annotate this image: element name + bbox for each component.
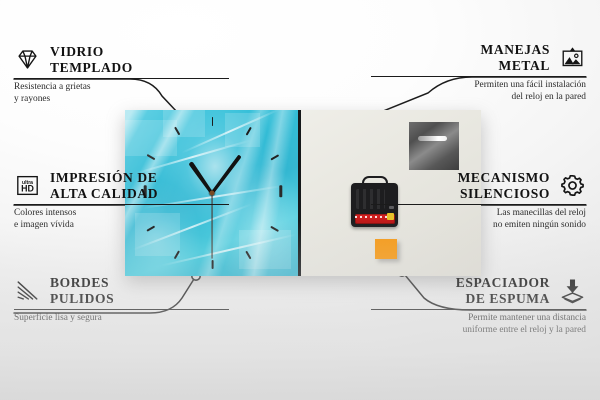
feature-subtitle: Resistencia a grietas y rayones bbox=[14, 82, 229, 105]
feature-subtitle: Colores intensos e imagen vívida bbox=[14, 208, 229, 231]
feature-title: MECANISMO SILENCIOSO bbox=[458, 170, 550, 201]
feature-title: ESPACIADOR DE ESPUMA bbox=[456, 275, 550, 306]
divider bbox=[14, 78, 229, 79]
picture-frame-hook-icon bbox=[559, 44, 586, 71]
gear-icon bbox=[559, 172, 586, 199]
feature-subtitle: Las manecillas del reloj no emiten ningú… bbox=[371, 208, 586, 231]
feature-subtitle: Permite mantener una distancia uniforme … bbox=[371, 313, 586, 336]
foam-spacer bbox=[375, 239, 397, 259]
metal-hanger-icon bbox=[409, 122, 459, 170]
feature-title: VIDRIO TEMPLADO bbox=[50, 44, 133, 75]
divider bbox=[371, 204, 586, 205]
infographic-canvas: VIDRIO TEMPLADO Resistencia a grietas y … bbox=[0, 0, 600, 400]
feature-mecanismo-silencioso[interactable]: MECANISMO SILENCIOSO Las manecillas del … bbox=[371, 170, 586, 231]
diagonal-lines-icon bbox=[14, 277, 41, 304]
feature-bordes-pulidos[interactable]: BORDES PULIDOS Superficie lisa y segura bbox=[14, 275, 229, 325]
feature-impresion-alta-calidad[interactable]: ultra HD IMPRESIÓN DE ALTA CALIDAD Color… bbox=[14, 170, 229, 231]
feature-title: IMPRESIÓN DE ALTA CALIDAD bbox=[50, 170, 158, 201]
feature-espaciador-de-espuma[interactable]: ESPACIADOR DE ESPUMA Permite mantener un… bbox=[371, 275, 586, 336]
divider bbox=[14, 204, 229, 205]
feature-subtitle: Superficie lisa y segura bbox=[14, 313, 229, 325]
svg-text:HD: HD bbox=[21, 183, 34, 193]
feature-subtitle: Permiten una fácil instalación del reloj… bbox=[371, 80, 586, 103]
divider bbox=[14, 309, 229, 310]
feature-vidrio-templado[interactable]: VIDRIO TEMPLADO Resistencia a grietas y … bbox=[14, 44, 229, 105]
feature-title: BORDES PULIDOS bbox=[50, 275, 114, 306]
hanger-slot bbox=[418, 136, 447, 141]
feature-manejas-metal[interactable]: MANEJAS METAL Permiten una fácil instala… bbox=[371, 42, 586, 103]
arrow-down-stack-icon bbox=[559, 277, 586, 304]
ultra-hd-icon: ultra HD bbox=[14, 172, 41, 199]
feature-title: MANEJAS METAL bbox=[481, 42, 550, 73]
divider bbox=[371, 309, 586, 310]
diamond-icon bbox=[14, 46, 41, 73]
divider bbox=[371, 76, 586, 77]
